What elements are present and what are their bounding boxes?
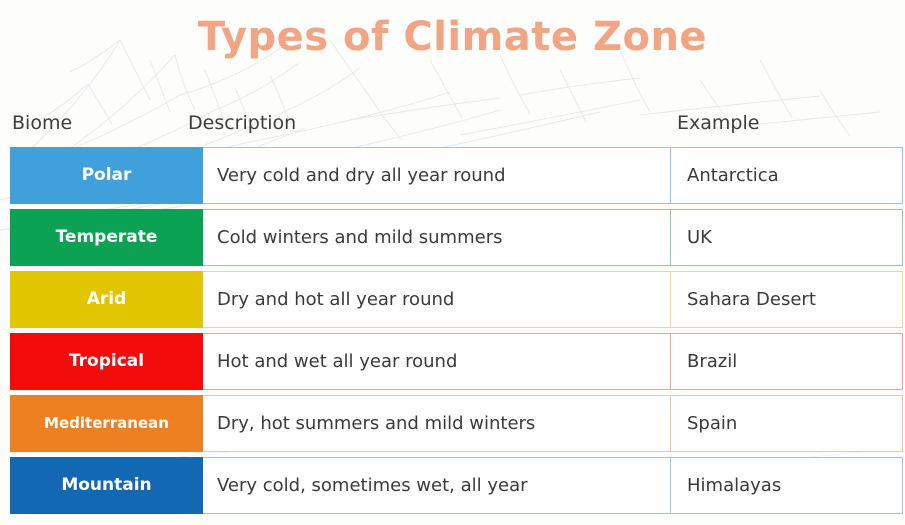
table-row: Arid Dry and hot all year round Sahara D… <box>10 271 903 328</box>
example-cell: Himalayas <box>670 457 903 514</box>
description-cell: Cold winters and mild summers <box>203 209 670 266</box>
example-cell: Spain <box>670 395 903 452</box>
description-text: Dry, hot summers and mild winters <box>217 413 535 434</box>
description-cell: Dry, hot summers and mild winters <box>203 395 670 452</box>
table-row: Temperate Cold winters and mild summers … <box>10 209 903 266</box>
biome-label: Polar <box>82 166 132 185</box>
description-text: Very cold, sometimes wet, all year <box>217 475 528 496</box>
example-text: Spain <box>687 413 737 434</box>
description-cell: Very cold, sometimes wet, all year <box>203 457 670 514</box>
example-cell: Antarctica <box>670 147 903 204</box>
table-row: Polar Very cold and dry all year round A… <box>10 147 903 204</box>
biome-label: Mountain <box>61 476 151 495</box>
biome-label: Mediterranean <box>44 415 169 432</box>
table-row: Tropical Hot and wet all year round Braz… <box>10 333 903 390</box>
biome-cell: Arid <box>10 271 203 328</box>
description-text: Hot and wet all year round <box>217 351 457 372</box>
table-row: Mediterranean Dry, hot summers and mild … <box>10 395 903 452</box>
biome-label: Arid <box>87 290 127 309</box>
example-text: Himalayas <box>687 475 781 496</box>
page-title: Types of Climate Zone <box>0 14 905 60</box>
example-text: UK <box>687 227 712 248</box>
column-header-example: Example <box>677 112 759 134</box>
example-text: Sahara Desert <box>687 289 816 310</box>
description-text: Cold winters and mild summers <box>217 227 502 248</box>
example-cell: Sahara Desert <box>670 271 903 328</box>
example-text: Brazil <box>687 351 737 372</box>
column-header-description: Description <box>188 112 296 134</box>
biome-cell: Temperate <box>10 209 203 266</box>
biome-cell: Tropical <box>10 333 203 390</box>
example-cell: Brazil <box>670 333 903 390</box>
description-cell: Dry and hot all year round <box>203 271 670 328</box>
climate-zone-poster: Types of Climate Zone Biome Description … <box>0 0 905 525</box>
example-text: Antarctica <box>687 165 779 186</box>
column-header-biome: Biome <box>12 112 72 134</box>
biome-cell: Polar <box>10 147 203 204</box>
description-text: Very cold and dry all year round <box>217 165 506 186</box>
biome-label: Temperate <box>56 228 158 247</box>
description-text: Dry and hot all year round <box>217 289 454 310</box>
description-cell: Very cold and dry all year round <box>203 147 670 204</box>
description-cell: Hot and wet all year round <box>203 333 670 390</box>
example-cell: UK <box>670 209 903 266</box>
table-row: Mountain Very cold, sometimes wet, all y… <box>10 457 903 514</box>
climate-zones-table: Polar Very cold and dry all year round A… <box>10 147 903 519</box>
biome-label: Tropical <box>69 352 144 371</box>
biome-cell: Mountain <box>10 457 203 514</box>
biome-cell: Mediterranean <box>10 395 203 452</box>
